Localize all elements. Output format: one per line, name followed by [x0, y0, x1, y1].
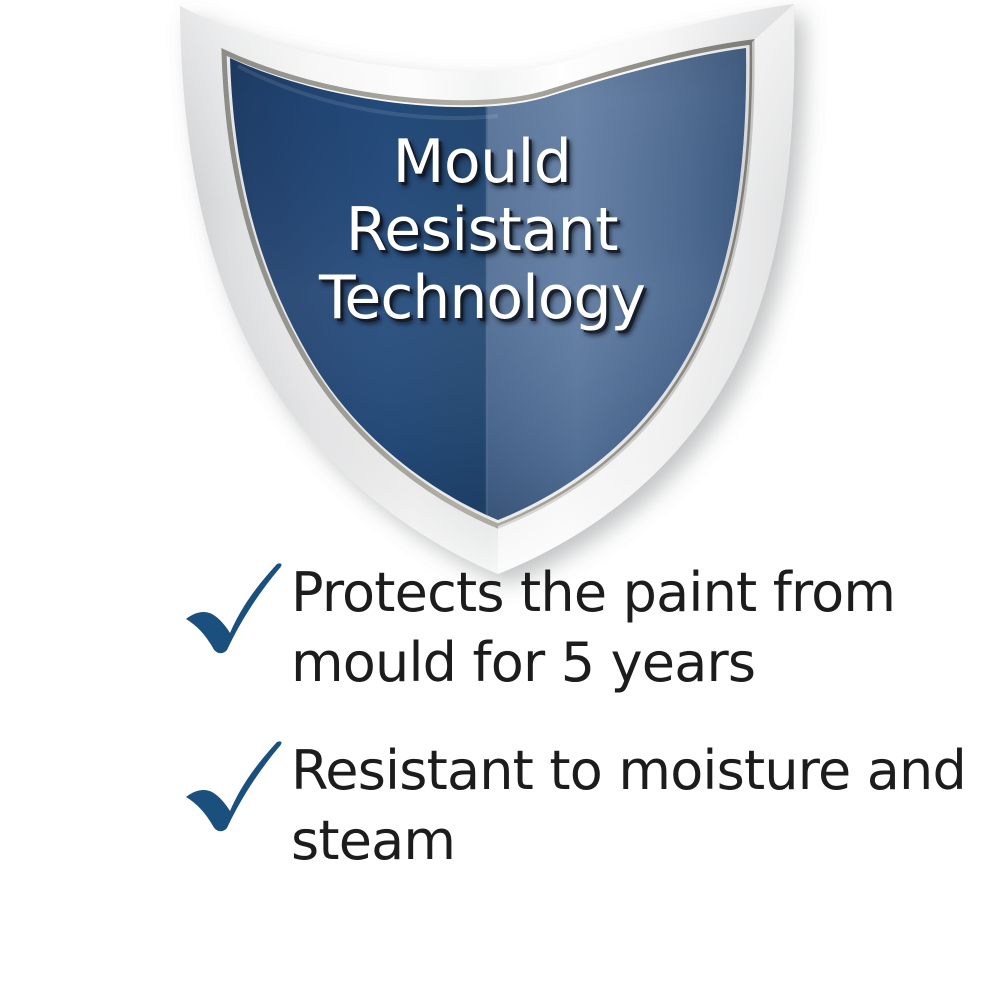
promo-graphic: Mould Resistant Technology Protects the …	[0, 0, 1000, 1000]
check-icon	[185, 740, 283, 832]
shield-badge	[168, 0, 808, 566]
benefit-text: Protects the paint from mould for 5 year…	[291, 558, 985, 698]
benefit-text: Resistant to moisture and steam	[291, 736, 985, 876]
benefit-item: Resistant to moisture and steam	[185, 734, 985, 876]
benefit-item: Protects the paint from mould for 5 year…	[185, 556, 985, 698]
check-icon	[185, 562, 283, 654]
benefits-list: Protects the paint from mould for 5 year…	[185, 556, 985, 876]
